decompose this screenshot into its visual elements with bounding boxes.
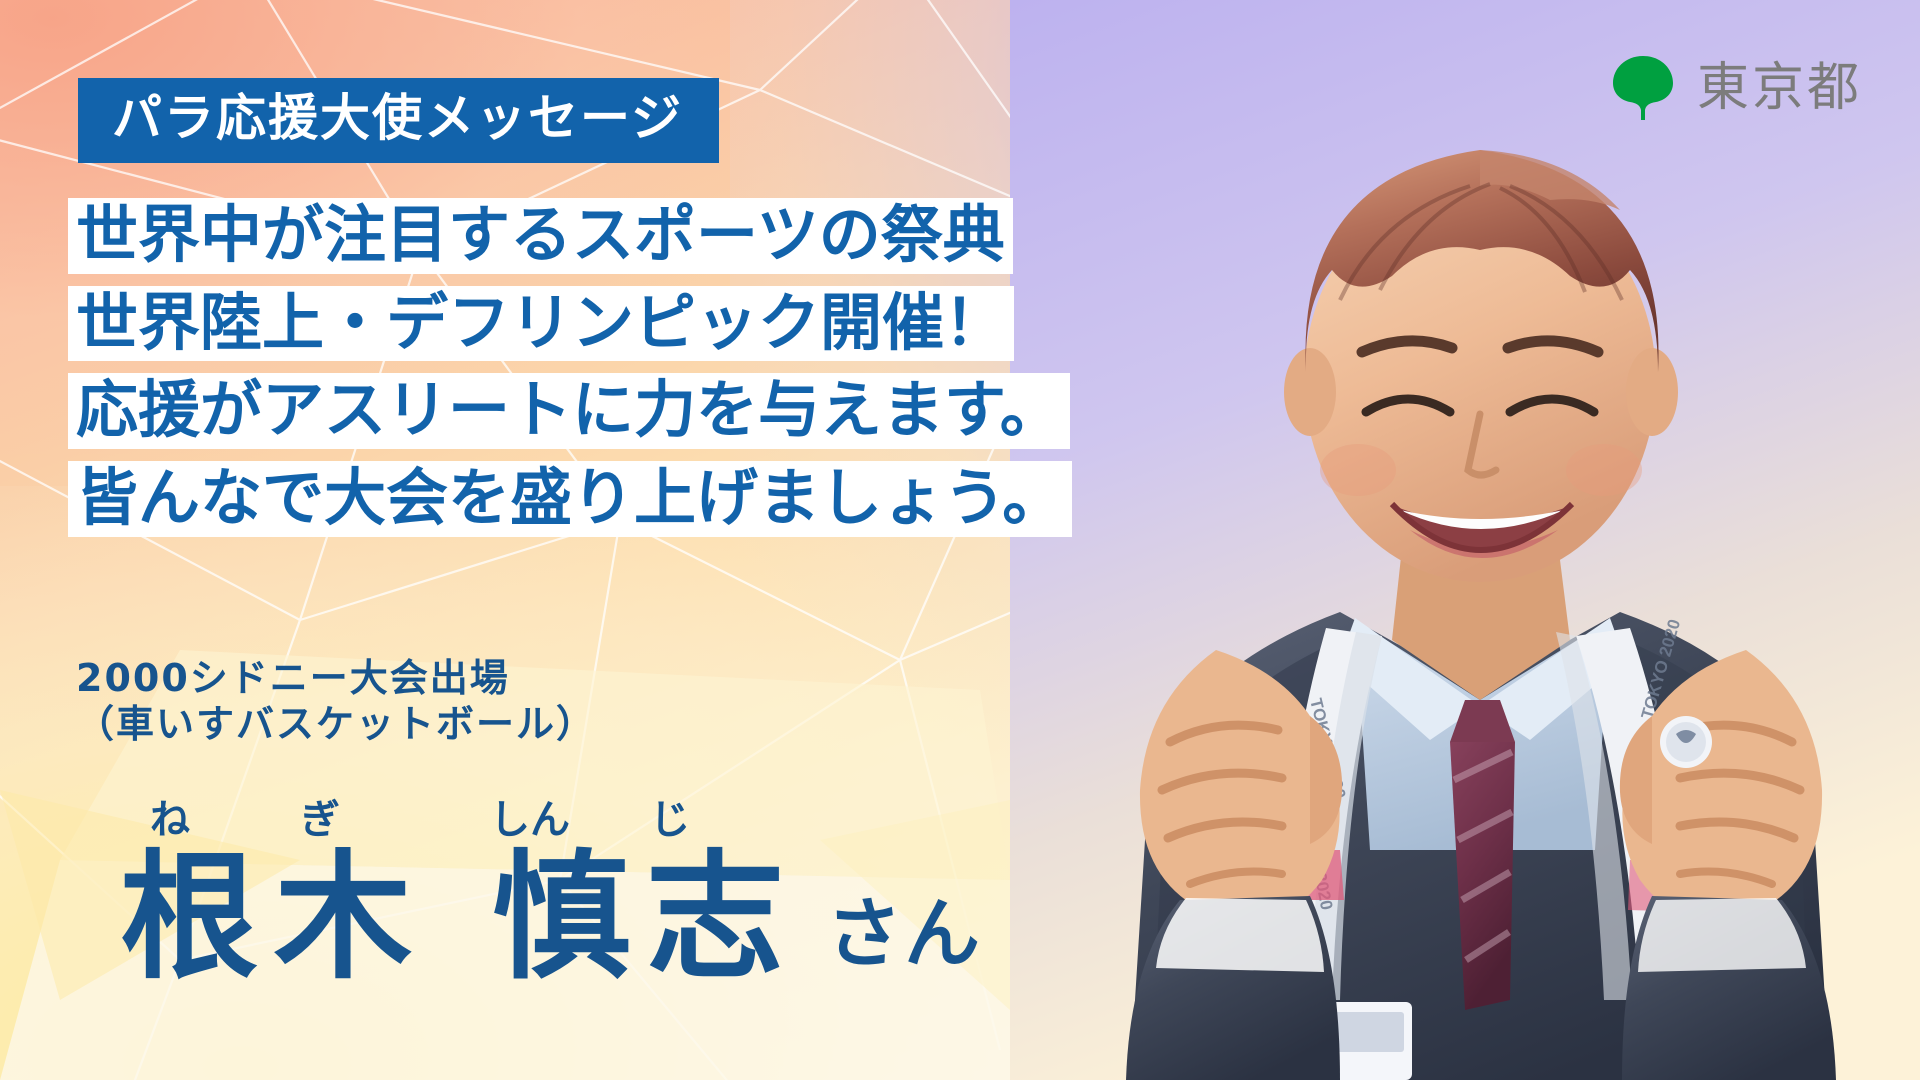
athlete-name-honorific: さん	[826, 897, 982, 985]
athlete-credentials: 2000シドニー大会出場 （車いすバスケットボール）	[76, 655, 596, 748]
athlete-name-block: ね ぎ しん じ 根木 慎志 さん	[120, 800, 982, 985]
ambassador-photo: TOKYO 2020 TOKYO 2020 TOKYO 2020 TOKYO 2…	[1010, 0, 1920, 1080]
tokyo-metropolitan-government-logo: 東京都	[1611, 52, 1862, 124]
ambassador-message-badge: パラ応援大使メッセージ	[78, 78, 719, 163]
athlete-name-furigana: ね ぎ しん じ	[120, 800, 982, 840]
furigana-4: じ	[650, 800, 730, 840]
credential-line-2: （車いすバスケットボール）	[76, 701, 596, 747]
badge-label: パラ応援大使メッセージ	[112, 92, 683, 145]
furigana-3: しん	[490, 800, 650, 840]
ginkgo-leaf-icon	[1611, 52, 1675, 124]
tokyo-logo-text: 東京都	[1697, 62, 1862, 114]
message-text-block: 世界中が注目するスポーツの祭典 世界陸上・デフリンピック開催！ 応援がアスリート…	[68, 198, 1072, 537]
furigana-1: ね	[150, 800, 300, 840]
athlete-name: 根木 慎志	[120, 850, 800, 985]
athlete-name-row: 根木 慎志 さん	[120, 850, 982, 985]
ambassador-photo-image: TOKYO 2020 TOKYO 2020 TOKYO 2020 TOKYO 2…	[1010, 0, 1920, 1080]
furigana-2: ぎ	[300, 800, 490, 840]
message-line-1: 世界中が注目するスポーツの祭典	[68, 198, 1013, 274]
message-line-4: 皆んなで大会を盛り上げましょう。	[68, 461, 1072, 537]
message-line-3: 応援がアスリートに力を与えます。	[68, 373, 1070, 449]
message-line-2: 世界陸上・デフリンピック開催！	[68, 286, 1014, 362]
para-supporter-message-banner: TOKYO 2020 TOKYO 2020 TOKYO 2020 TOKYO 2…	[0, 0, 1920, 1080]
credential-line-1: 2000シドニー大会出場	[76, 655, 596, 701]
